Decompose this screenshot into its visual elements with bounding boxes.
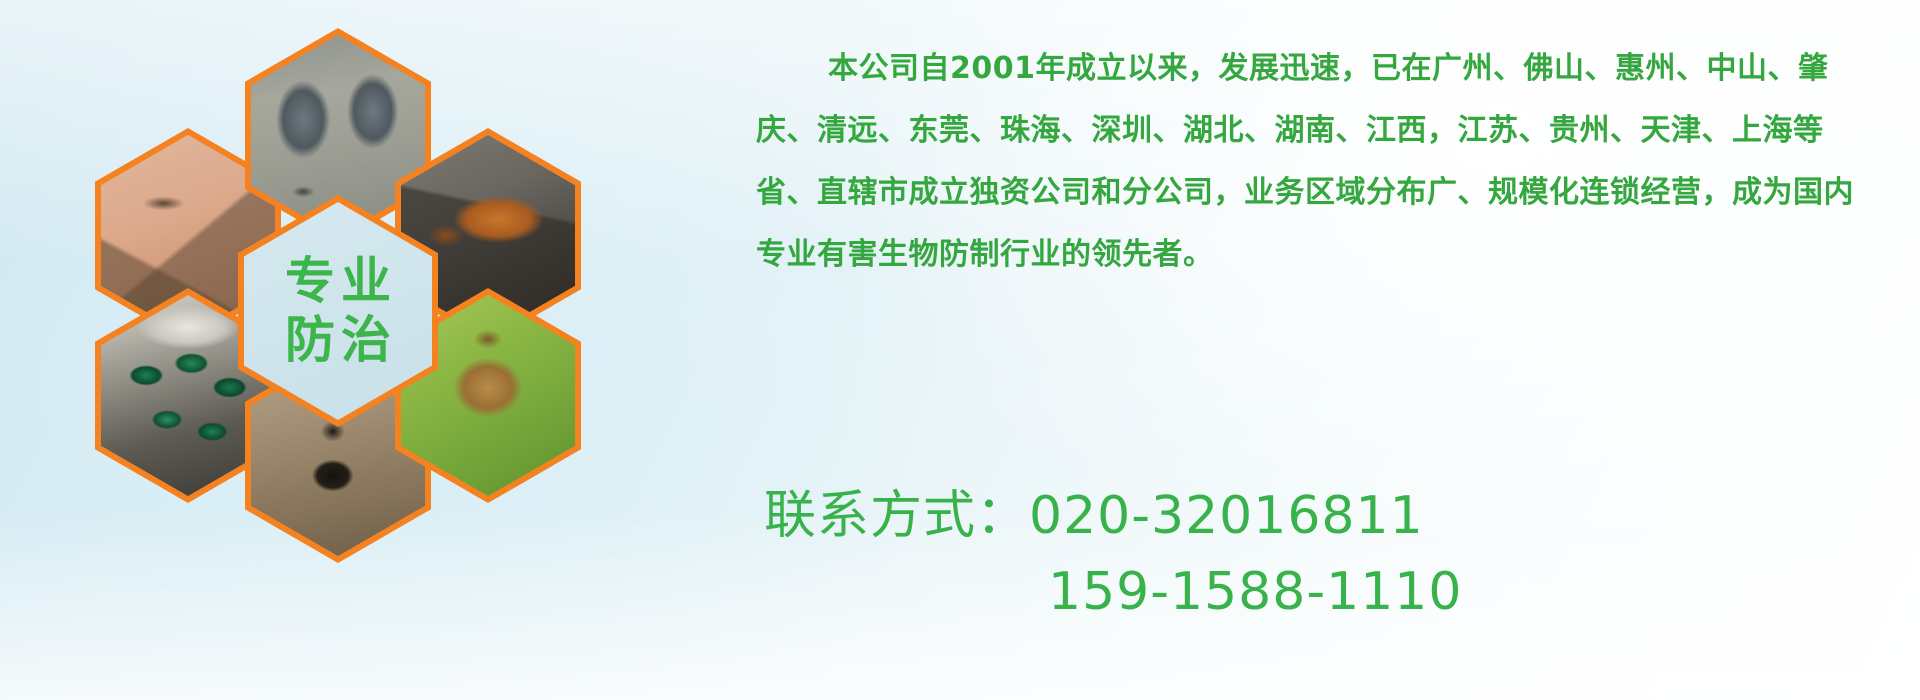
- about-block: 本公司自2001年成立以来，发展迅速，已在广州、佛山、惠州、中山、肇庆、清远、东…: [756, 38, 1876, 286]
- slogan-line-1: 专业: [279, 255, 397, 308]
- contact-line-primary[interactable]: 联系方式：020-32016811: [764, 478, 1864, 554]
- honeycomb-logo: 专业 防治: [95, 10, 595, 570]
- slogan-plate: 专业 防治: [244, 202, 432, 420]
- content-column: 本公司自2001年成立以来，发展迅速，已在广州、佛山、惠州、中山、肇庆、清远、东…: [740, 0, 1900, 700]
- contact-block: 联系方式：020-32016811 159-1588-1110: [764, 478, 1864, 630]
- promo-banner: 专业 防治 本公司自2001年成立以来，发展迅速，已在广州、佛山、惠州、中山、肇…: [0, 0, 1920, 700]
- contact-line-secondary[interactable]: 159-1588-1110: [764, 554, 1864, 630]
- slogan-line-2: 防治: [279, 314, 397, 367]
- about-paragraph: 本公司自2001年成立以来，发展迅速，已在广州、佛山、惠州、中山、肇庆、清远、东…: [756, 38, 1876, 286]
